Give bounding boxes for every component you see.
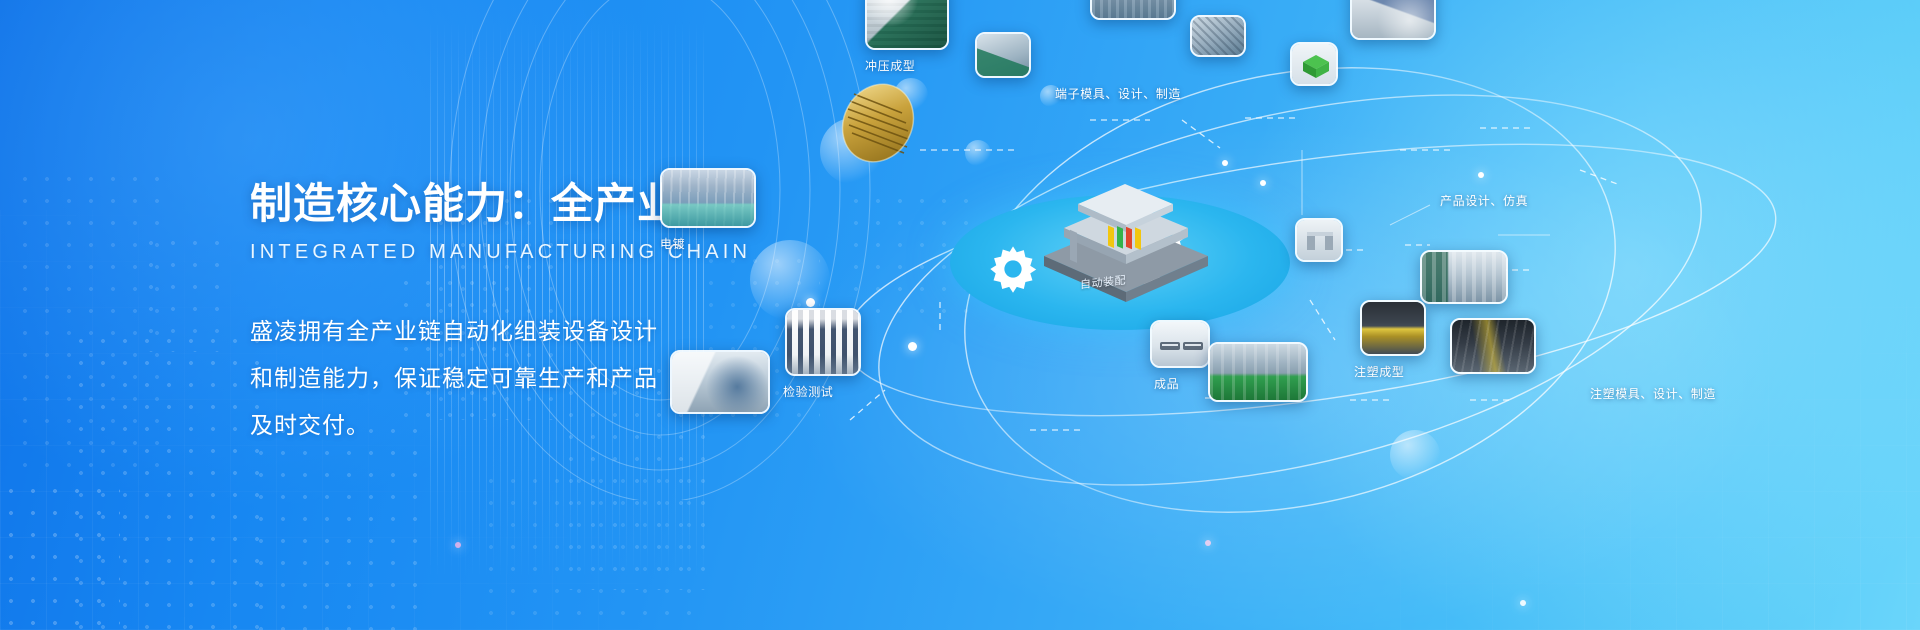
node-product-design-3d[interactable] [1290, 42, 1338, 86]
banner-copy: 制造核心能力：全产业链 INTEGRATED MANUFACTURING CHA… [250, 0, 870, 630]
node-electroplating-label: 电镀 [660, 235, 756, 252]
page-title: 制造核心能力：全产业链 [250, 181, 870, 227]
node-terminal-mold-secondary[interactable] [1190, 15, 1246, 57]
orbit-node-dot-2 [908, 342, 917, 351]
node-stamping-secondary[interactable] [975, 32, 1031, 78]
node-product-design-image[interactable] [1350, 0, 1436, 40]
orbit-node-dot-3 [1222, 160, 1228, 166]
node-terminal-mold-label: 端子模具、设计、制造 [1055, 85, 1181, 102]
copy-spacer [250, 264, 870, 308]
sparkle-2 [1205, 540, 1211, 546]
node-electroplating[interactable]: 电镀 [660, 168, 756, 252]
node-injection-molding-image[interactable] [1360, 300, 1426, 356]
node-injection-mold-secondary-image[interactable] [1295, 218, 1343, 262]
orbit-paths [790, 0, 1920, 630]
node-terminal-mold[interactable] [1090, 0, 1176, 20]
node-product-design[interactable] [1350, 0, 1436, 40]
node-product-design-3d-image[interactable] [1290, 42, 1338, 86]
node-stamping-image[interactable] [865, 0, 949, 50]
node-test-rack-image[interactable] [785, 308, 861, 376]
banner-stage: 制造核心能力：全产业链 INTEGRATED MANUFACTURING CHA… [0, 0, 1920, 630]
node-finished-product-image[interactable] [1150, 320, 1210, 368]
node-electroplating-image[interactable] [660, 168, 756, 228]
dot-pattern-3 [70, 330, 270, 630]
node-terminal-mold-secondary-image[interactable] [1190, 15, 1246, 57]
orbit-node-dot-1 [806, 298, 815, 307]
node-inspection-testing[interactable] [670, 350, 770, 414]
node-assembly-line[interactable] [1208, 342, 1308, 402]
automatic-assembly-machine: 自动装配 [1030, 160, 1220, 310]
node-injection-mold-label: 注塑模具、设计、制造 [1590, 385, 1716, 402]
manufacturing-chain-infographic: 自动装配 电镀 [790, 0, 1920, 630]
node-injection-molding-label: 注塑成型 [1354, 363, 1426, 380]
node-product-design-label: 产品设计、仿真 [1440, 192, 1528, 209]
dot-pattern-4 [140, 232, 230, 352]
node-stamping-forming[interactable]: 冲压成型 [865, 0, 949, 74]
node-conveyor[interactable] [1450, 318, 1536, 374]
orbit-node-dot-5 [1478, 172, 1484, 178]
sparkle-3 [455, 542, 461, 548]
node-conveyor-image[interactable] [1450, 318, 1536, 374]
node-injection-mold[interactable] [1420, 250, 1508, 304]
sparkle-1 [1520, 600, 1526, 606]
node-assembly-line-image[interactable] [1208, 342, 1308, 402]
node-finished-product[interactable]: 成品 [1150, 320, 1210, 392]
page-description: 盛凌拥有全产业链自动化组装设备设计和制造能力，保证稳定可靠生产和产品及时交付。 [250, 308, 680, 449]
node-stamping-label: 冲压成型 [865, 57, 949, 74]
coil-element [830, 75, 926, 171]
dot-pattern-1 [0, 480, 120, 630]
node-stamping-secondary-image[interactable] [975, 32, 1031, 78]
node-inspection-testing-image[interactable] [670, 350, 770, 414]
node-inspection-testing-label: 检验测试 [783, 383, 861, 400]
node-injection-molding[interactable]: 注塑成型 [1360, 300, 1426, 380]
node-terminal-mold-image[interactable] [1090, 0, 1176, 20]
node-finished-product-label: 成品 [1154, 375, 1210, 392]
node-injection-mold-secondary[interactable] [1295, 218, 1343, 262]
orbit-node-dot-4 [1260, 180, 1266, 186]
node-injection-mold-image[interactable] [1420, 250, 1508, 304]
node-test-rack[interactable]: 检验测试 [785, 308, 861, 400]
page-subtitle: INTEGRATED MANUFACTURING CHAIN [250, 241, 870, 264]
dot-pattern-2 [14, 168, 164, 468]
